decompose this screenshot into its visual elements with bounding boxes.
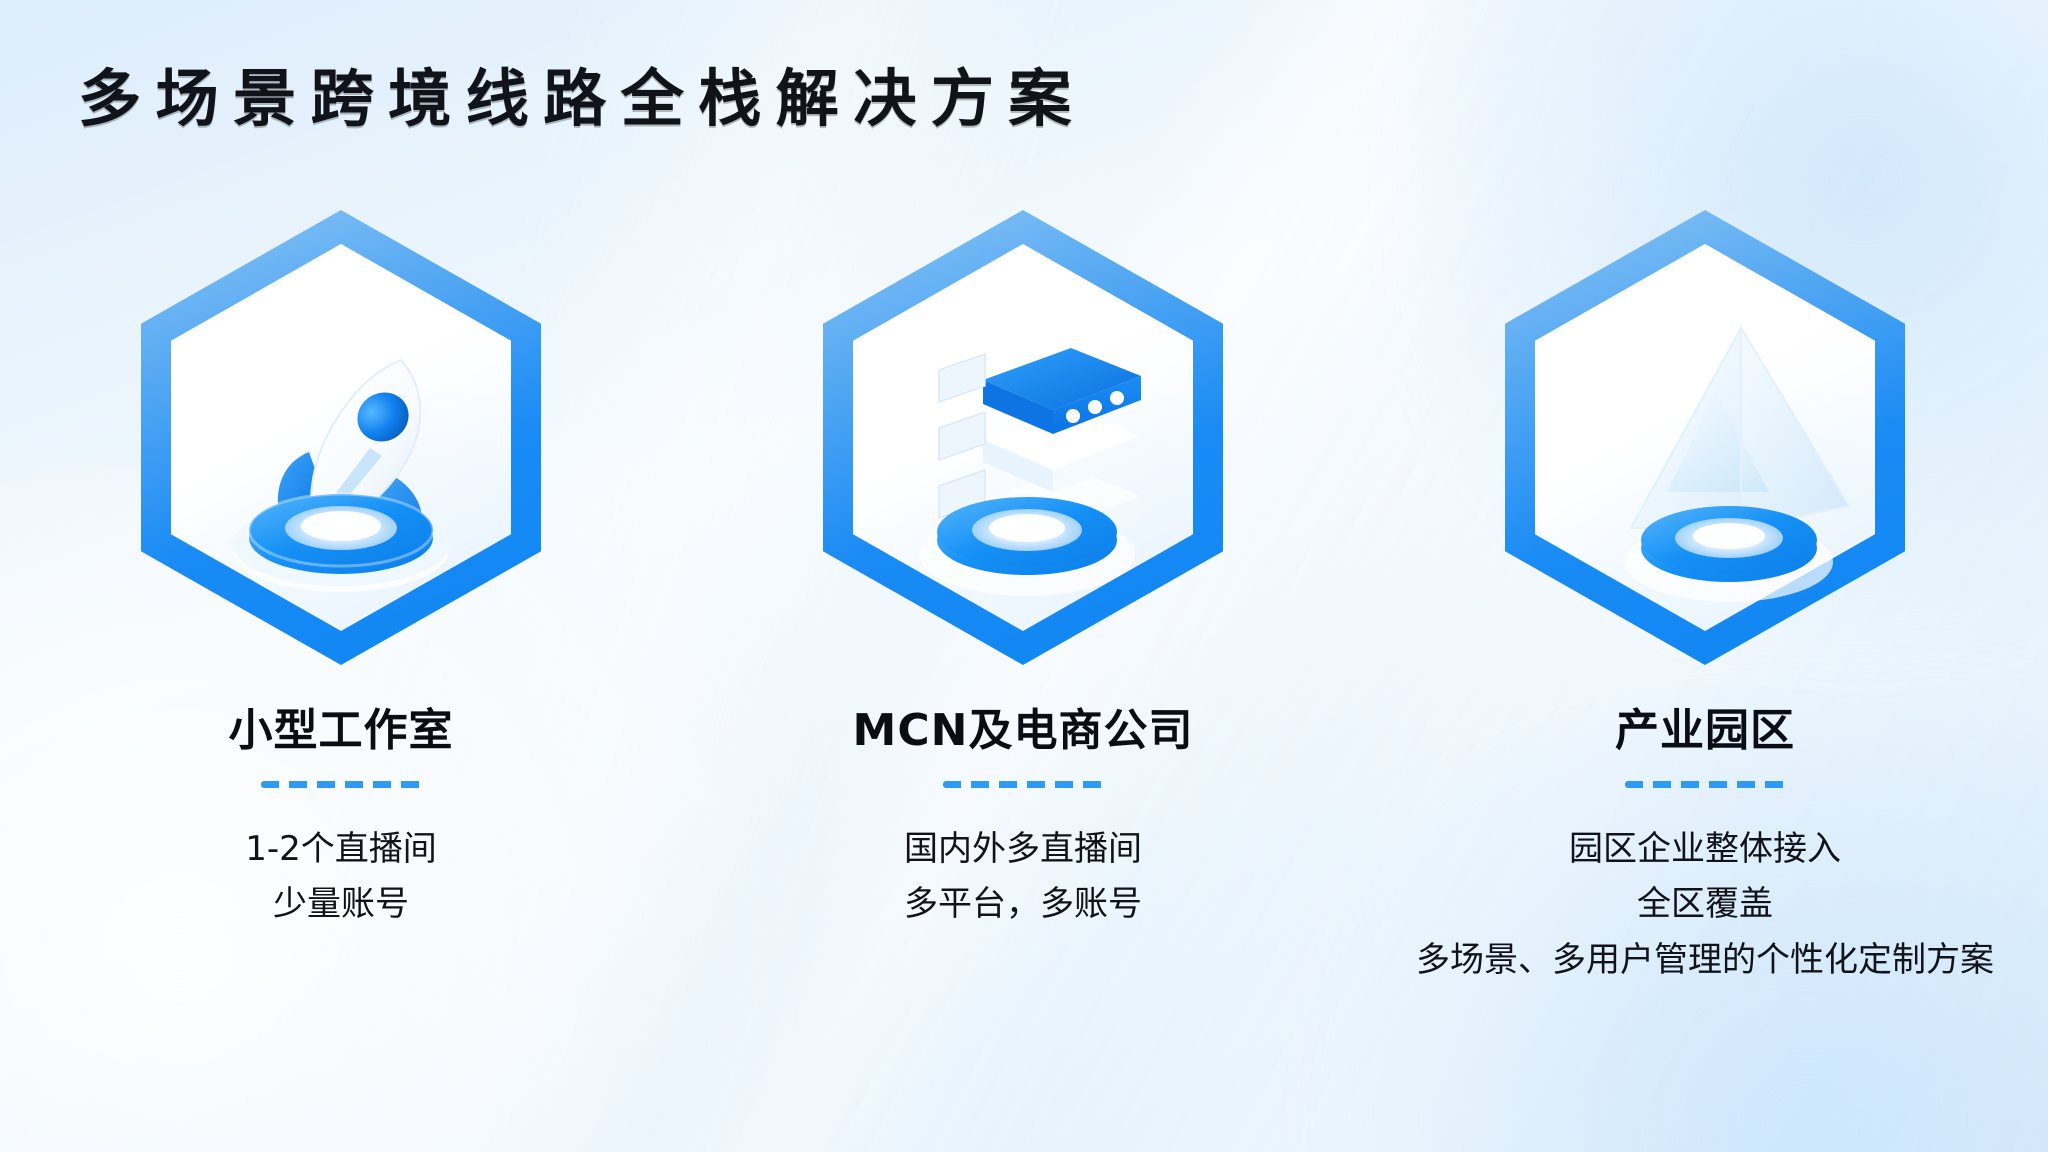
card-industrial-park[interactable]: 产业园区 园区企业整体接入 全区覆盖 多场景、多用户管理的个性化定制方案 [1364,210,2046,988]
hexagon-badge [823,210,1223,665]
card-divider [1625,781,1785,788]
card-description-line: 全区覆盖 [1416,877,1994,932]
rocket-icon [141,210,541,665]
card-title: 小型工作室 [229,707,454,755]
card-title: 产业园区 [1615,707,1795,755]
hexagon-badge [1505,210,1905,665]
card-description: 1-2个直播间 少量账号 [245,822,437,932]
card-description-line: 园区企业整体接入 [1416,822,1994,877]
card-small-studio[interactable]: 小型工作室 1-2个直播间 少量账号 [0,210,682,988]
card-description: 园区企业整体接入 全区覆盖 多场景、多用户管理的个性化定制方案 [1416,822,1994,987]
hexagon-badge [141,210,541,665]
card-group: 小型工作室 1-2个直播间 少量账号 [0,210,2048,988]
card-divider [943,781,1103,788]
card-description: 国内外多直播间 多平台，多账号 [904,822,1142,932]
slide-canvas: 多场景跨境线路全栈解决方案 [0,0,2048,1152]
card-description-line: 1-2个直播间 [245,822,437,877]
card-description-line: 多平台，多账号 [904,877,1142,932]
card-description-line: 国内外多直播间 [904,822,1142,877]
page-title: 多场景跨境线路全栈解决方案 [78,68,1086,130]
card-divider [261,781,421,788]
pyramid-icon [1505,210,1905,665]
card-mcn-ecommerce[interactable]: MCN及电商公司 国内外多直播间 多平台，多账号 [682,210,1364,988]
card-description-line: 多场景、多用户管理的个性化定制方案 [1416,933,1994,988]
card-title: MCN及电商公司 [853,707,1194,755]
card-description-line: 少量账号 [245,877,437,932]
server-stack-icon [823,210,1223,665]
